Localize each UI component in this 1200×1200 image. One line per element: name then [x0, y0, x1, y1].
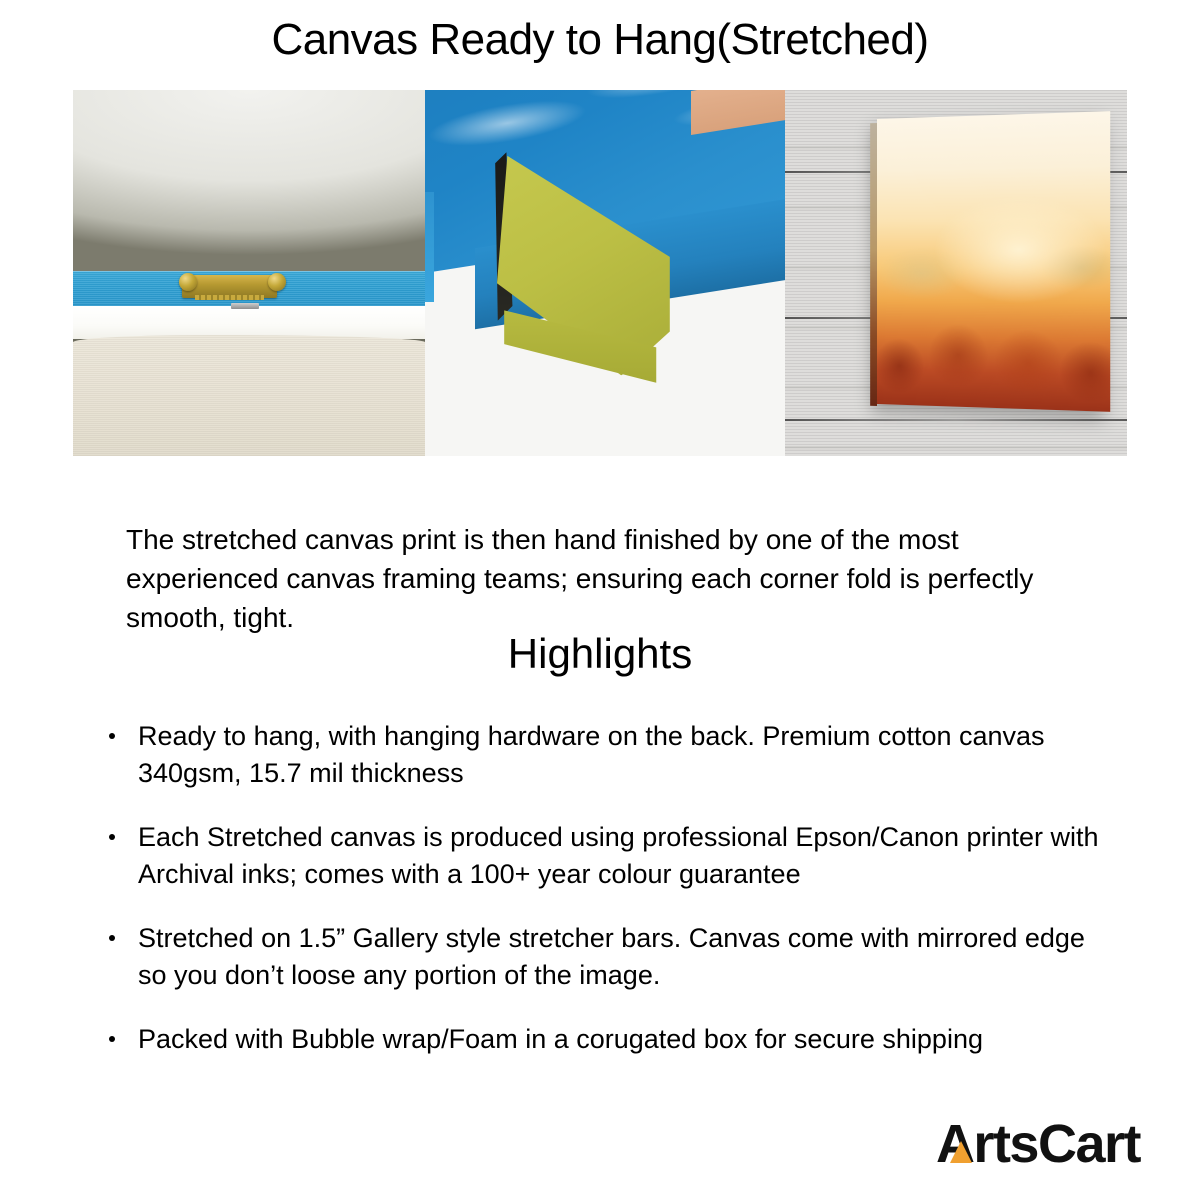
list-item-text: Each Stretched canvas is produced using …: [138, 822, 1099, 889]
bullet-dot-icon: [109, 834, 115, 840]
wood-plank-line: [785, 419, 1127, 421]
bullet-dot-icon: [109, 935, 115, 941]
photo-canvas-corner-fold: [425, 90, 785, 456]
photo1-canvas-face: [73, 335, 425, 456]
photo-canvas-hanging-on-wall: [785, 90, 1127, 456]
bullet-dot-icon: [109, 733, 115, 739]
list-item: Ready to hang, with hanging hardware on …: [104, 718, 1114, 792]
hanger-screw-left-icon: [179, 273, 197, 291]
wall-nail-icon: [231, 303, 259, 309]
highlights-heading: Highlights: [0, 630, 1200, 678]
intro-paragraph: The stretched canvas print is then hand …: [126, 520, 1076, 637]
list-item: Each Stretched canvas is produced using …: [104, 819, 1114, 893]
photo1-white-band: [73, 306, 425, 339]
orange-triangle-icon: [950, 1141, 972, 1163]
list-item: Stretched on 1.5” Gallery style stretche…: [104, 920, 1114, 994]
page-title: Canvas Ready to Hang(Stretched): [0, 16, 1200, 64]
list-item-text: Packed with Bubble wrap/Foam in a coruga…: [138, 1024, 983, 1054]
highlights-list: Ready to hang, with hanging hardware on …: [104, 718, 1114, 1085]
photo1-backdrop: [73, 90, 425, 273]
photo2-left-sliver: [425, 192, 434, 302]
list-item-text: Ready to hang, with hanging hardware on …: [138, 721, 1045, 788]
list-item: Packed with Bubble wrap/Foam in a coruga…: [104, 1021, 1114, 1058]
product-image-gallery: [73, 90, 1127, 456]
artwork-foreground-ridge: [877, 308, 1110, 413]
brand-wordmark: ArtsCart: [936, 1117, 1140, 1171]
brand-logo: ArtsCart: [936, 1116, 1140, 1172]
sunset-landscape-artwork: [877, 111, 1110, 412]
bullet-dot-icon: [109, 1036, 115, 1042]
photo-canvas-back-with-hanger: [73, 90, 425, 456]
list-item-text: Stretched on 1.5” Gallery style stretche…: [138, 923, 1085, 990]
